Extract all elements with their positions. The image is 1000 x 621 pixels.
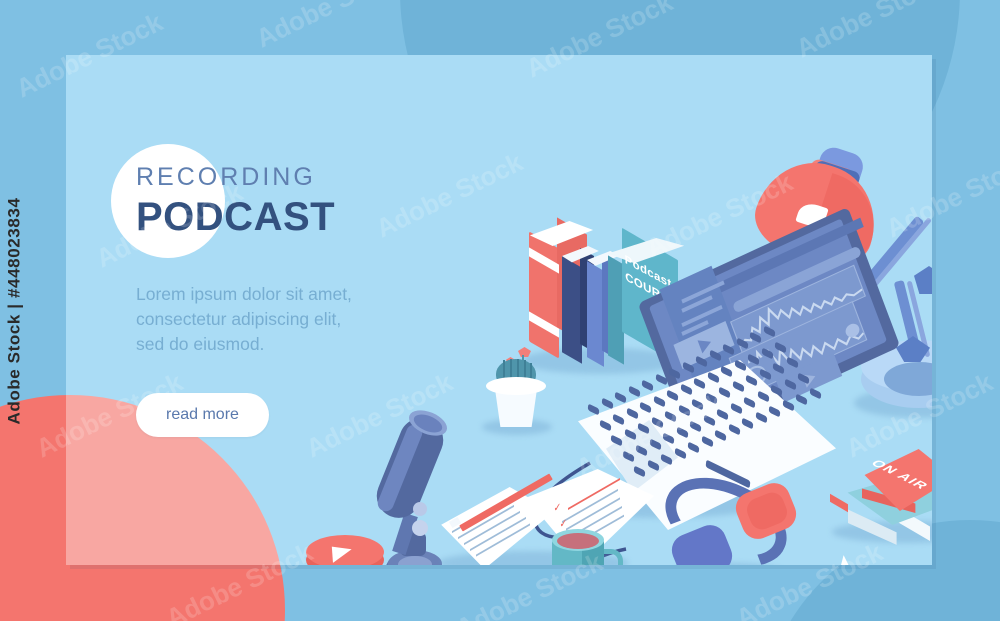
keyboard-key[interactable] xyxy=(601,397,613,409)
mug-liquid xyxy=(557,533,599,549)
keyboard-key[interactable] xyxy=(769,405,781,417)
stock-id-text: Adobe Stock | #448023834 xyxy=(5,197,25,424)
hero-card: RECORDING PODCAST Lorem ipsum dolor sit … xyxy=(66,55,932,565)
keyboard-key[interactable] xyxy=(809,387,821,399)
keyboard-key[interactable] xyxy=(796,393,808,405)
keyboard-key[interactable] xyxy=(653,395,665,407)
keyboard-key[interactable] xyxy=(730,402,742,414)
book-edge-red xyxy=(830,494,848,512)
keyboard-key[interactable] xyxy=(680,383,692,395)
play-button-disc[interactable] xyxy=(304,533,390,565)
keyboard-key[interactable] xyxy=(759,368,771,380)
keyboard-key[interactable] xyxy=(757,390,769,402)
keyboard-key[interactable] xyxy=(742,417,754,429)
cactus-flower-large xyxy=(518,347,531,357)
keyboard-key[interactable] xyxy=(655,373,667,385)
keyboard-key[interactable] xyxy=(692,398,704,410)
keyboard-key[interactable] xyxy=(798,372,810,384)
keyboard-key[interactable] xyxy=(719,386,731,398)
keyboard-key[interactable] xyxy=(746,374,758,386)
keyboard-key[interactable] xyxy=(669,367,681,379)
lamp-joint-mid xyxy=(914,266,932,294)
keyboard-key[interactable] xyxy=(744,396,756,408)
keyboard-key[interactable] xyxy=(732,380,744,392)
illustration-canvas: RECORDING PODCAST Lorem ipsum dolor sit … xyxy=(0,0,1000,621)
on-air-sign-on-book: ON AIR xyxy=(828,445,932,545)
keyboard-key[interactable] xyxy=(642,379,654,391)
keyboard-key[interactable] xyxy=(721,365,733,377)
keyboard-key[interactable] xyxy=(784,378,796,390)
keyboard-key[interactable] xyxy=(588,403,600,415)
coffee-mug xyxy=(548,525,628,565)
mic-knob-upper[interactable] xyxy=(413,502,427,516)
keyboard-key[interactable] xyxy=(728,423,740,435)
keyboard-key[interactable] xyxy=(694,377,706,389)
watermark-text: Adobe Stock xyxy=(251,0,407,54)
hero-kicker: RECORDING xyxy=(136,165,466,190)
keyboard-key[interactable] xyxy=(667,389,679,401)
keyboard-key[interactable] xyxy=(705,392,717,404)
hero-body-text: Lorem ipsum dolor sit amet, consectetur … xyxy=(136,282,366,357)
hero-text-block: RECORDING PODCAST Lorem ipsum dolor sit … xyxy=(136,165,466,437)
keyboard-key[interactable] xyxy=(615,391,627,403)
read-more-button[interactable]: read more xyxy=(136,393,269,437)
keyboard-key[interactable] xyxy=(782,399,794,411)
keyboard-key[interactable] xyxy=(717,408,729,420)
stock-id-watermark: Adobe Stock | #448023834 xyxy=(0,0,32,621)
cactus-pot-rim xyxy=(486,377,546,395)
keyboard-key[interactable] xyxy=(640,401,652,413)
page-title: PODCAST xyxy=(136,194,466,240)
keyboard-key[interactable] xyxy=(755,411,767,423)
keyboard-key[interactable] xyxy=(707,371,719,383)
keyboard-key[interactable] xyxy=(771,384,783,396)
keyboard-key[interactable] xyxy=(628,385,640,397)
star-icon xyxy=(820,553,873,565)
keyboard-key[interactable] xyxy=(715,429,727,441)
star-decoration xyxy=(822,555,872,565)
headphones xyxy=(656,483,796,565)
